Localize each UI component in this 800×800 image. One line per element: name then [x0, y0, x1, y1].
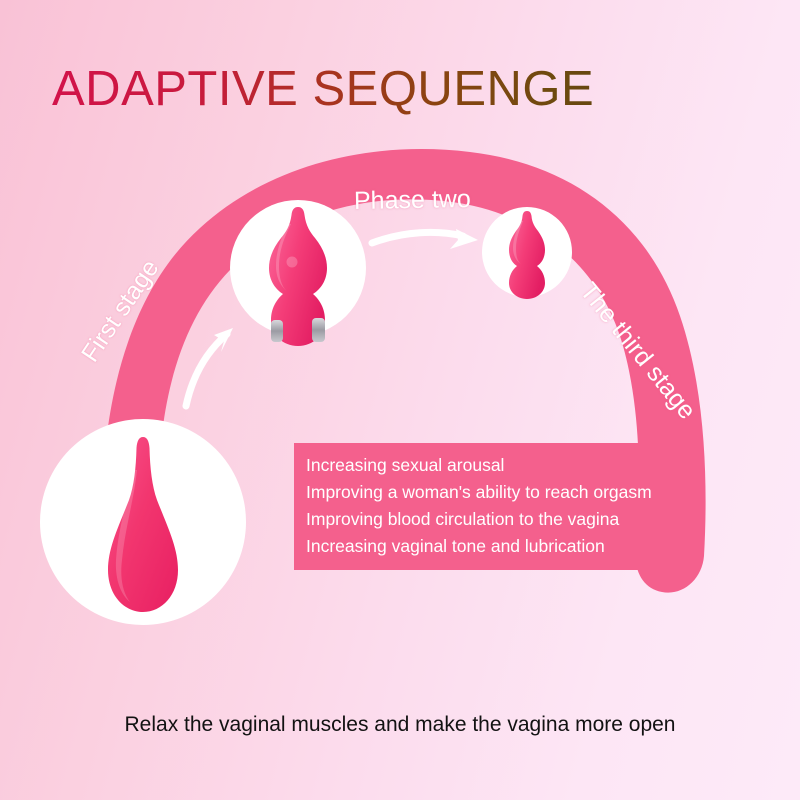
benefit-item: Increasing sexual arousal	[306, 452, 698, 479]
benefits-box: Increasing sexual arousal Improving a wo…	[294, 443, 698, 570]
stage-two-circle	[230, 200, 366, 346]
benefit-item: Improving blood circulation to the vagin…	[306, 506, 698, 533]
benefit-item: Increasing vaginal tone and lubrication	[306, 533, 698, 560]
stage-label-phase-two: Phase two	[354, 185, 471, 216]
benefit-item: Improving a woman's ability to reach org…	[306, 479, 698, 506]
stage-three-circle	[482, 207, 572, 299]
arrow-one-to-two-icon	[186, 328, 233, 406]
bottom-caption: Relax the vaginal muscles and make the v…	[0, 713, 800, 737]
infographic-poster: ADAPTIVE SEQUENGE	[0, 0, 800, 800]
stage-one-circle	[40, 419, 246, 625]
arrow-two-to-three-icon	[372, 229, 478, 249]
